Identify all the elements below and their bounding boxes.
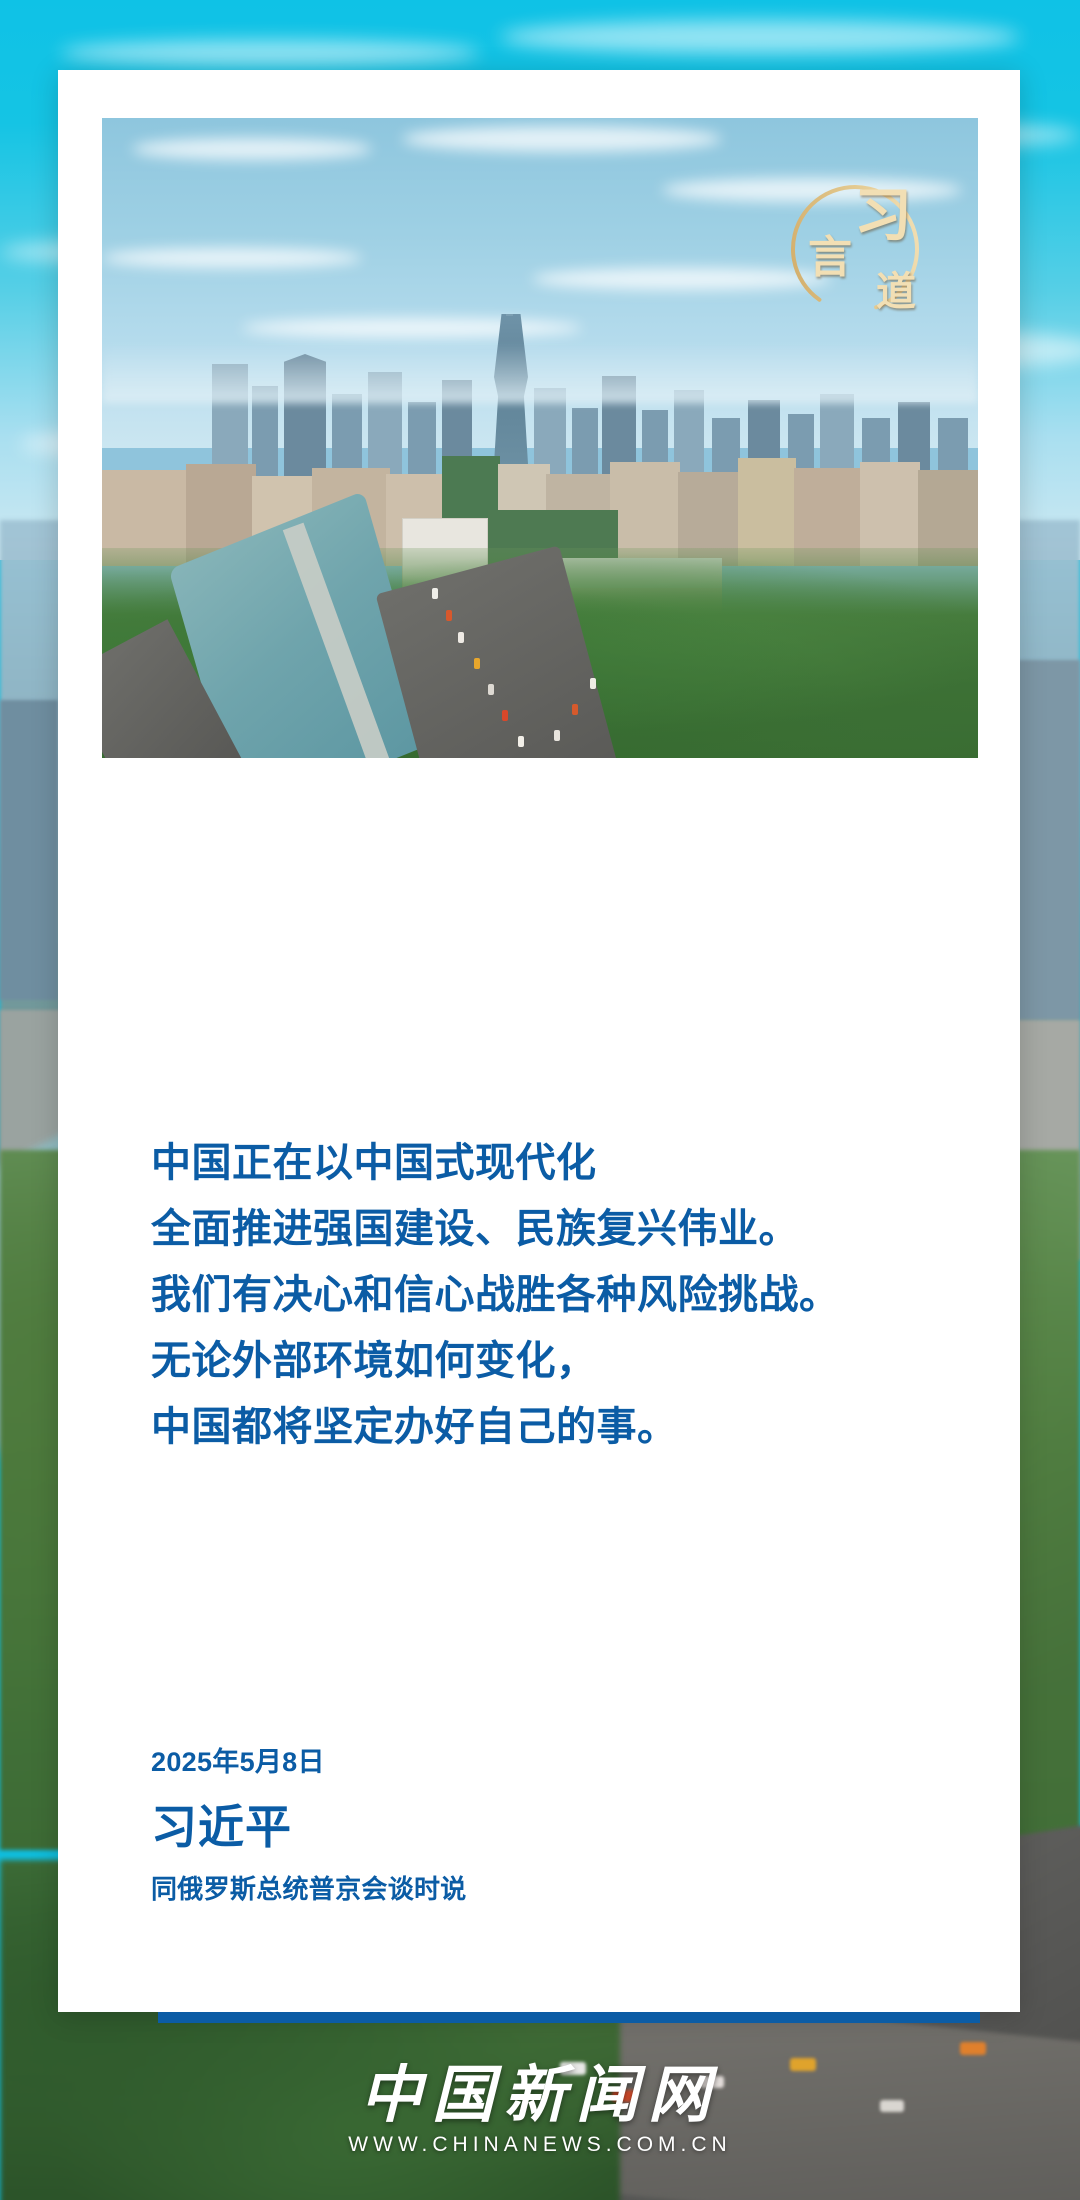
attribution: 2025年5月8日 习近平 同俄罗斯总统普京会谈时说	[151, 1740, 467, 1906]
attribution-context: 同俄罗斯总统普京会谈时说	[151, 1869, 467, 1906]
poster-card: 习 言 道 中国正在以中国式现代化 全面推进强国建设、民族复兴伟业。 我们有决心…	[58, 70, 1020, 2012]
hero-photo: 习 言 道	[102, 118, 978, 758]
quote-line-2: 全面推进强国建设、民族复兴伟业。	[151, 1196, 1031, 1262]
quote-line-1: 中国正在以中国式现代化	[151, 1130, 1031, 1196]
quote-line-4: 无论外部环境如何变化，	[151, 1328, 1031, 1394]
quote-text: 中国正在以中国式现代化 全面推进强国建设、民族复兴伟业。 我们有决心和信心战胜各…	[151, 1130, 1031, 1460]
attribution-speaker: 习近平	[151, 1791, 467, 1857]
site-logo-url: WWW.CHINANEWS.COM.CN	[0, 2133, 1080, 2157]
site-logo: 中国新闻网 WWW.CHINANEWS.COM.CN	[0, 2062, 1080, 2157]
attribution-date: 2025年5月8日	[151, 1740, 467, 1779]
divider-rule	[158, 2012, 980, 2023]
quote-line-3: 我们有决心和信心战胜各种风险挑战。	[151, 1262, 1031, 1328]
site-logo-text: 中国新闻网	[0, 2062, 1080, 2127]
quote-line-5: 中国都将坚定办好自己的事。	[151, 1394, 1031, 1460]
